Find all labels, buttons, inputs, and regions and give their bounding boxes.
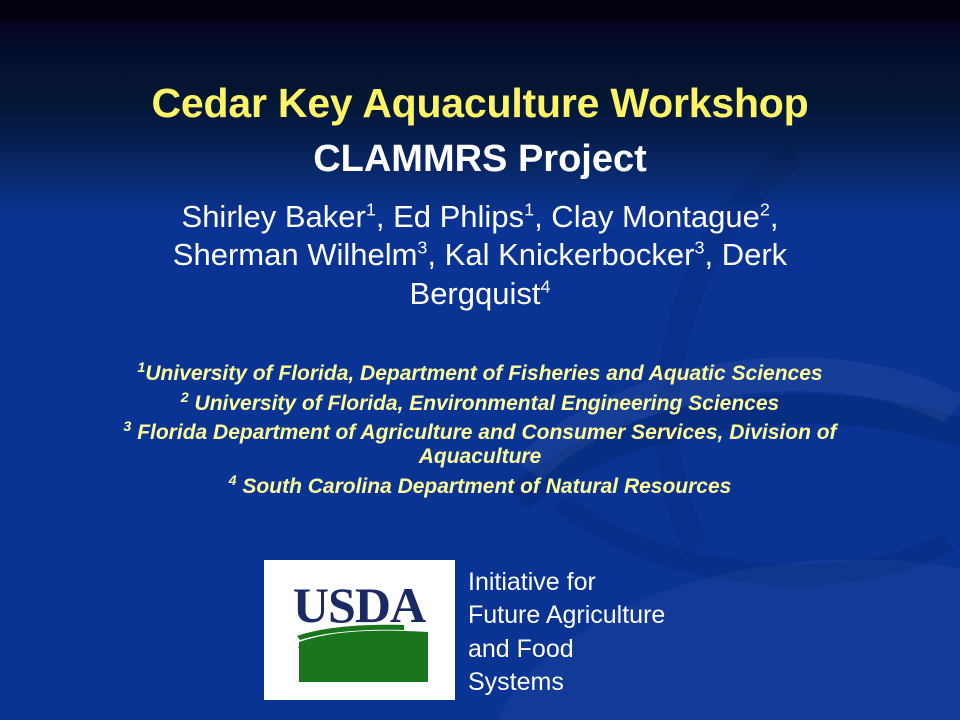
- affiliation-text-4: South Carolina Department of Natural Res…: [237, 475, 732, 498]
- affiliation-marker-4: 4: [229, 473, 237, 489]
- caption-line-1: Initiative for: [468, 566, 718, 599]
- usda-logo: USDA: [264, 560, 455, 700]
- author-text-4: Montague: [622, 199, 760, 234]
- author-text-3: , Clay: [534, 199, 613, 234]
- affiliation-list: 1University of Florida, Department of Fi…: [60, 362, 900, 499]
- affiliation-text-1: University of Florida, Department of Fis…: [145, 362, 822, 385]
- affiliation-text-2: University of Florida, Environmental Eng…: [189, 392, 779, 415]
- author-text-2: , Ed Phlips: [376, 199, 524, 234]
- author-affiliation-marker-5: 3: [695, 238, 705, 258]
- author-text-6: , Kal: [427, 237, 489, 272]
- author-affiliation-marker-6: 4: [540, 277, 550, 297]
- author-list: Shirley Baker1, Ed Phlips1, Clay Montagu…: [160, 198, 800, 313]
- affiliation-item-1: 1University of Florida, Department of Fi…: [60, 362, 900, 386]
- program-caption: Initiative for Future Agriculture and Fo…: [468, 566, 718, 699]
- author-affiliation-marker-1: 1: [366, 200, 376, 220]
- affiliation-marker-2: 2: [181, 390, 189, 406]
- svg-text:USDA: USDA: [293, 577, 426, 633]
- slide-content: Cedar Key Aquaculture Workshop CLAMMRS P…: [0, 0, 960, 720]
- affiliation-item-3: 3 Florida Department of Agriculture and …: [60, 421, 900, 468]
- slide-title: Cedar Key Aquaculture Workshop: [0, 82, 960, 125]
- caption-line-4: Systems: [468, 666, 718, 699]
- author-affiliation-marker-4: 3: [417, 238, 427, 258]
- caption-line-2: Future Agriculture: [468, 599, 718, 632]
- author-affiliation-marker-3: 2: [760, 200, 770, 220]
- affiliation-item-2: 2 University of Florida, Environmental E…: [60, 392, 900, 416]
- presentation-slide: Cedar Key Aquaculture Workshop CLAMMRS P…: [0, 0, 960, 720]
- affiliation-text-3: Florida Department of Agriculture and Co…: [131, 421, 836, 468]
- caption-line-3: and Food: [468, 633, 718, 666]
- author-text-1: Shirley Baker: [182, 199, 366, 234]
- slide-subtitle: CLAMMRS Project: [0, 140, 960, 180]
- author-affiliation-marker-2: 1: [524, 200, 534, 220]
- usda-logo-icon: USDA: [264, 560, 455, 700]
- affiliation-item-4: 4 South Carolina Department of Natural R…: [60, 475, 900, 499]
- author-text-7: Knickerbocker: [498, 237, 694, 272]
